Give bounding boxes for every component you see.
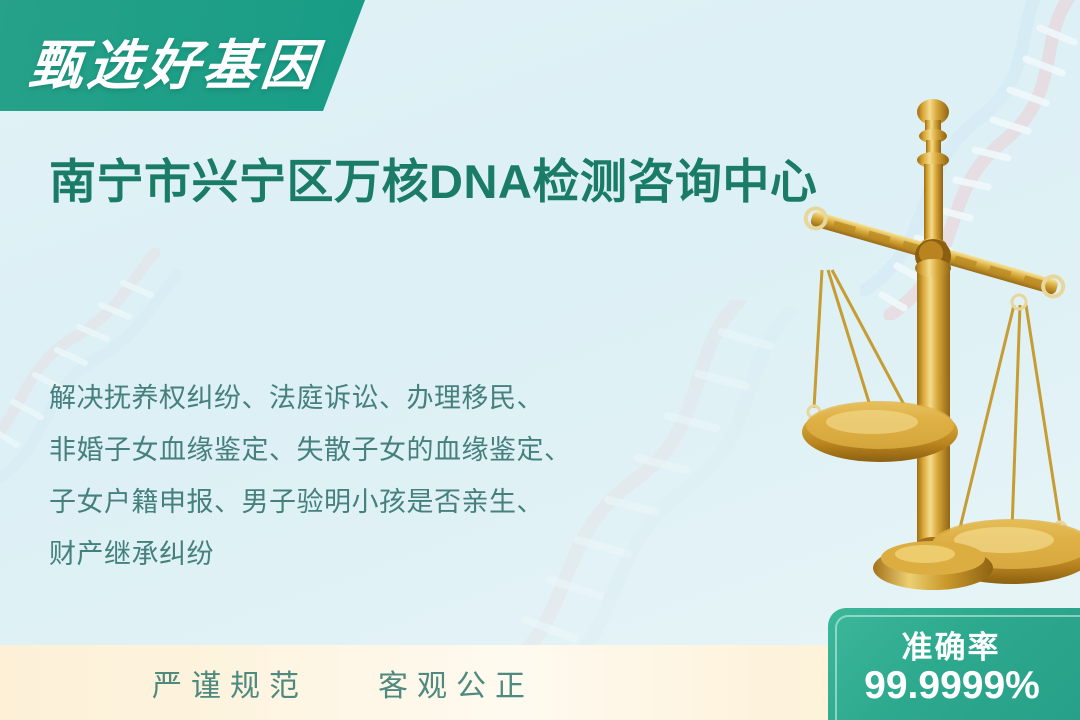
accuracy-badge: 准确率 99.9999% [828,608,1080,720]
description-line: 子女户籍申报、男子验明小孩是否亲生、 [49,476,749,528]
description-line: 非婚子女血缘鉴定、失散子女的血缘鉴定、 [49,424,749,476]
brand-logo-text: 甄选好基因 [26,21,324,100]
promotional-poster: 甄选好基因 南宁市兴宁区万核DNA检测咨询中心 解决抚养权纠纷、法庭诉讼、办理移… [0,0,1080,720]
page-title: 南宁市兴宁区万核DNA检测咨询中心 [49,151,839,214]
slogan-item: 客观公正 [378,661,534,705]
slogan-bar: 严谨规范 客观公正 [0,645,830,720]
description-line: 财产继承纠纷 [49,528,749,580]
badge-value: 99.9999% [828,664,1076,708]
service-description: 解决抚养权纠纷、法庭诉讼、办理移民、 非婚子女血缘鉴定、失散子女的血缘鉴定、 子… [49,372,749,580]
badge-label: 准确率 [828,622,1074,667]
slogan-item: 严谨规范 [152,661,308,705]
description-line: 解决抚养权纠纷、法庭诉讼、办理移民、 [49,372,749,424]
